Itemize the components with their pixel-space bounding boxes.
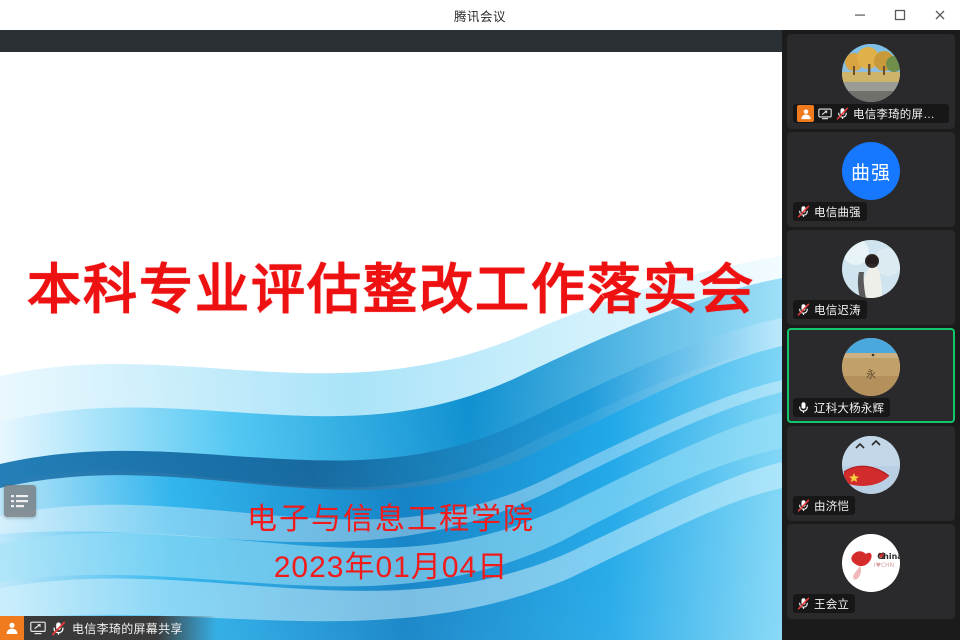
mic-muted-icon — [836, 107, 849, 120]
mic-muted-icon — [797, 499, 810, 512]
share-host-badge — [0, 616, 24, 640]
participant-tile[interactable]: I China I♥CHN 王会立 — [787, 524, 955, 619]
avatar: 永 — [842, 338, 900, 396]
participant-name: 电信李琦的屏幕... — [853, 106, 943, 122]
participant-name: 电信曲强 — [814, 204, 861, 220]
participant-label: 电信曲强 — [793, 202, 867, 221]
maximize-button[interactable] — [880, 0, 920, 30]
mic-muted-icon — [797, 597, 810, 610]
avatar: I China I♥CHN — [842, 534, 900, 592]
slide-title: 本科专业评估整改工作落实会 — [0, 258, 782, 322]
participant-tile[interactable]: 电信迟涛 — [787, 230, 955, 325]
avatar — [842, 240, 900, 298]
tencent-meeting-window: 腾讯会议 — [0, 0, 960, 640]
close-icon — [934, 9, 946, 21]
participant-rail[interactable]: 电信李琦的屏幕... 曲强 电信曲强 — [782, 30, 960, 640]
close-button[interactable] — [920, 0, 960, 30]
participant-label: 王会立 — [793, 594, 855, 613]
avatar-photo-desert: 永 — [842, 338, 900, 396]
stage-letterbox — [0, 30, 782, 52]
participant-tile[interactable]: 曲强 电信曲强 — [787, 132, 955, 227]
mic-muted-icon — [797, 303, 810, 316]
window-controls — [840, 0, 960, 30]
avatar — [842, 436, 900, 494]
svg-text:永: 永 — [866, 368, 876, 381]
minimize-button[interactable] — [840, 0, 880, 30]
avatar-photo-autumn-trees — [842, 44, 900, 102]
screen-share-icon — [30, 621, 46, 635]
screen-share-icon — [818, 108, 832, 120]
avatar-photo-i-love-china: I China I♥CHN — [842, 534, 900, 592]
slide-date: 2023年01月04日 — [0, 548, 782, 588]
mic-muted-icon — [51, 621, 66, 636]
host-person-icon — [800, 108, 812, 120]
participant-tile[interactable]: 电信李琦的屏幕... — [787, 34, 955, 129]
share-owner-label: 电信李琦的屏幕共享 — [72, 620, 191, 637]
avatar-photo-flag-birds — [842, 436, 900, 494]
avatar — [842, 44, 900, 102]
avatar-photo-person-sky — [842, 240, 900, 298]
host-badge — [797, 105, 814, 122]
svg-text:China: China — [877, 552, 900, 561]
mic-on-icon — [797, 401, 810, 414]
participant-name: 王会立 — [814, 596, 849, 612]
list-icon — [11, 494, 29, 508]
maximize-icon — [894, 9, 906, 21]
svg-text:I♥CHN: I♥CHN — [874, 562, 894, 569]
participant-name: 电信迟涛 — [814, 302, 861, 318]
participant-label: 电信迟涛 — [793, 300, 867, 319]
minimize-icon — [854, 9, 866, 21]
screen-share-status-bar: 电信李琦的屏幕共享 — [0, 616, 217, 640]
host-person-icon — [5, 621, 19, 635]
participant-name: 由济恺 — [814, 498, 849, 514]
title-bar: 腾讯会议 — [0, 0, 960, 31]
window-title: 腾讯会议 — [454, 6, 506, 25]
avatar: 曲强 — [842, 142, 900, 200]
presentation-slide: 本科专业评估整改工作落实会 电子与信息工程学院 2023年01月04日 — [0, 52, 782, 640]
participant-label: 电信李琦的屏幕... — [793, 104, 949, 123]
slide-subtitle: 电子与信息工程学院 — [0, 500, 782, 540]
avatar-initials: 曲强 — [851, 158, 891, 185]
shared-screen-stage: 本科专业评估整改工作落实会 电子与信息工程学院 2023年01月04日 — [0, 30, 782, 640]
mic-muted-icon — [797, 205, 810, 218]
participant-list-toggle-button[interactable] — [4, 485, 36, 517]
participant-tile[interactable]: 由济恺 — [787, 426, 955, 521]
participant-tile-active-speaker[interactable]: 永 辽科大杨永辉 — [787, 328, 955, 423]
participant-label: 辽科大杨永辉 — [793, 398, 890, 417]
share-bar-icons — [24, 621, 72, 636]
participant-label: 由济恺 — [793, 496, 855, 515]
participant-name: 辽科大杨永辉 — [814, 400, 884, 416]
